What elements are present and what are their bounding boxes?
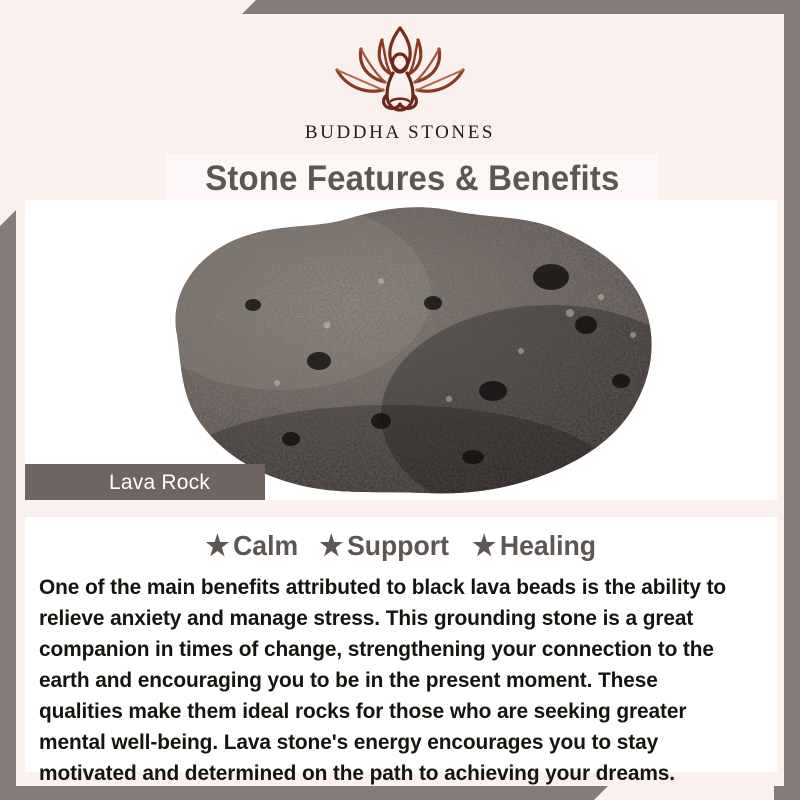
separator-strip [25, 500, 777, 517]
photo-caption: Lava Rock [109, 471, 210, 495]
keyword-row: ★Calm★Support★Healing [25, 529, 777, 562]
star-icon: ★ [205, 530, 229, 561]
lava-rock-photo [81, 200, 721, 500]
photo-stage [25, 200, 777, 500]
title-plaque: Stone Features & Benefits [166, 154, 658, 204]
photo-caption-band: Lava Rock [25, 464, 265, 502]
text-panel: ★Calm★Support★Healing One of the main be… [25, 517, 777, 772]
keyword-healing-label: Healing [500, 530, 596, 561]
keyword-calm: ★Calm [205, 529, 298, 562]
keyword-support: ★Support [320, 529, 450, 562]
star-icon: ★ [472, 530, 496, 561]
poster-root: BUDDHA STONES Stone Features & Benefits [0, 0, 800, 800]
brand-logo: BUDDHA STONES [16, 22, 784, 144]
keyword-calm-label: Calm [233, 530, 298, 561]
body-paragraph: One of the main benefits attributed to b… [39, 572, 747, 789]
keyword-healing: ★Healing [472, 529, 596, 562]
inner-page: BUDDHA STONES Stone Features & Benefits [16, 14, 784, 786]
lotus-meditation-icon [325, 22, 475, 118]
star-icon: ★ [320, 530, 344, 561]
brand-name: BUDDHA STONES [16, 122, 784, 144]
photo-panel [25, 200, 777, 500]
keyword-support-label: Support [348, 530, 450, 561]
page-title: Stone Features & Benefits [205, 159, 619, 199]
